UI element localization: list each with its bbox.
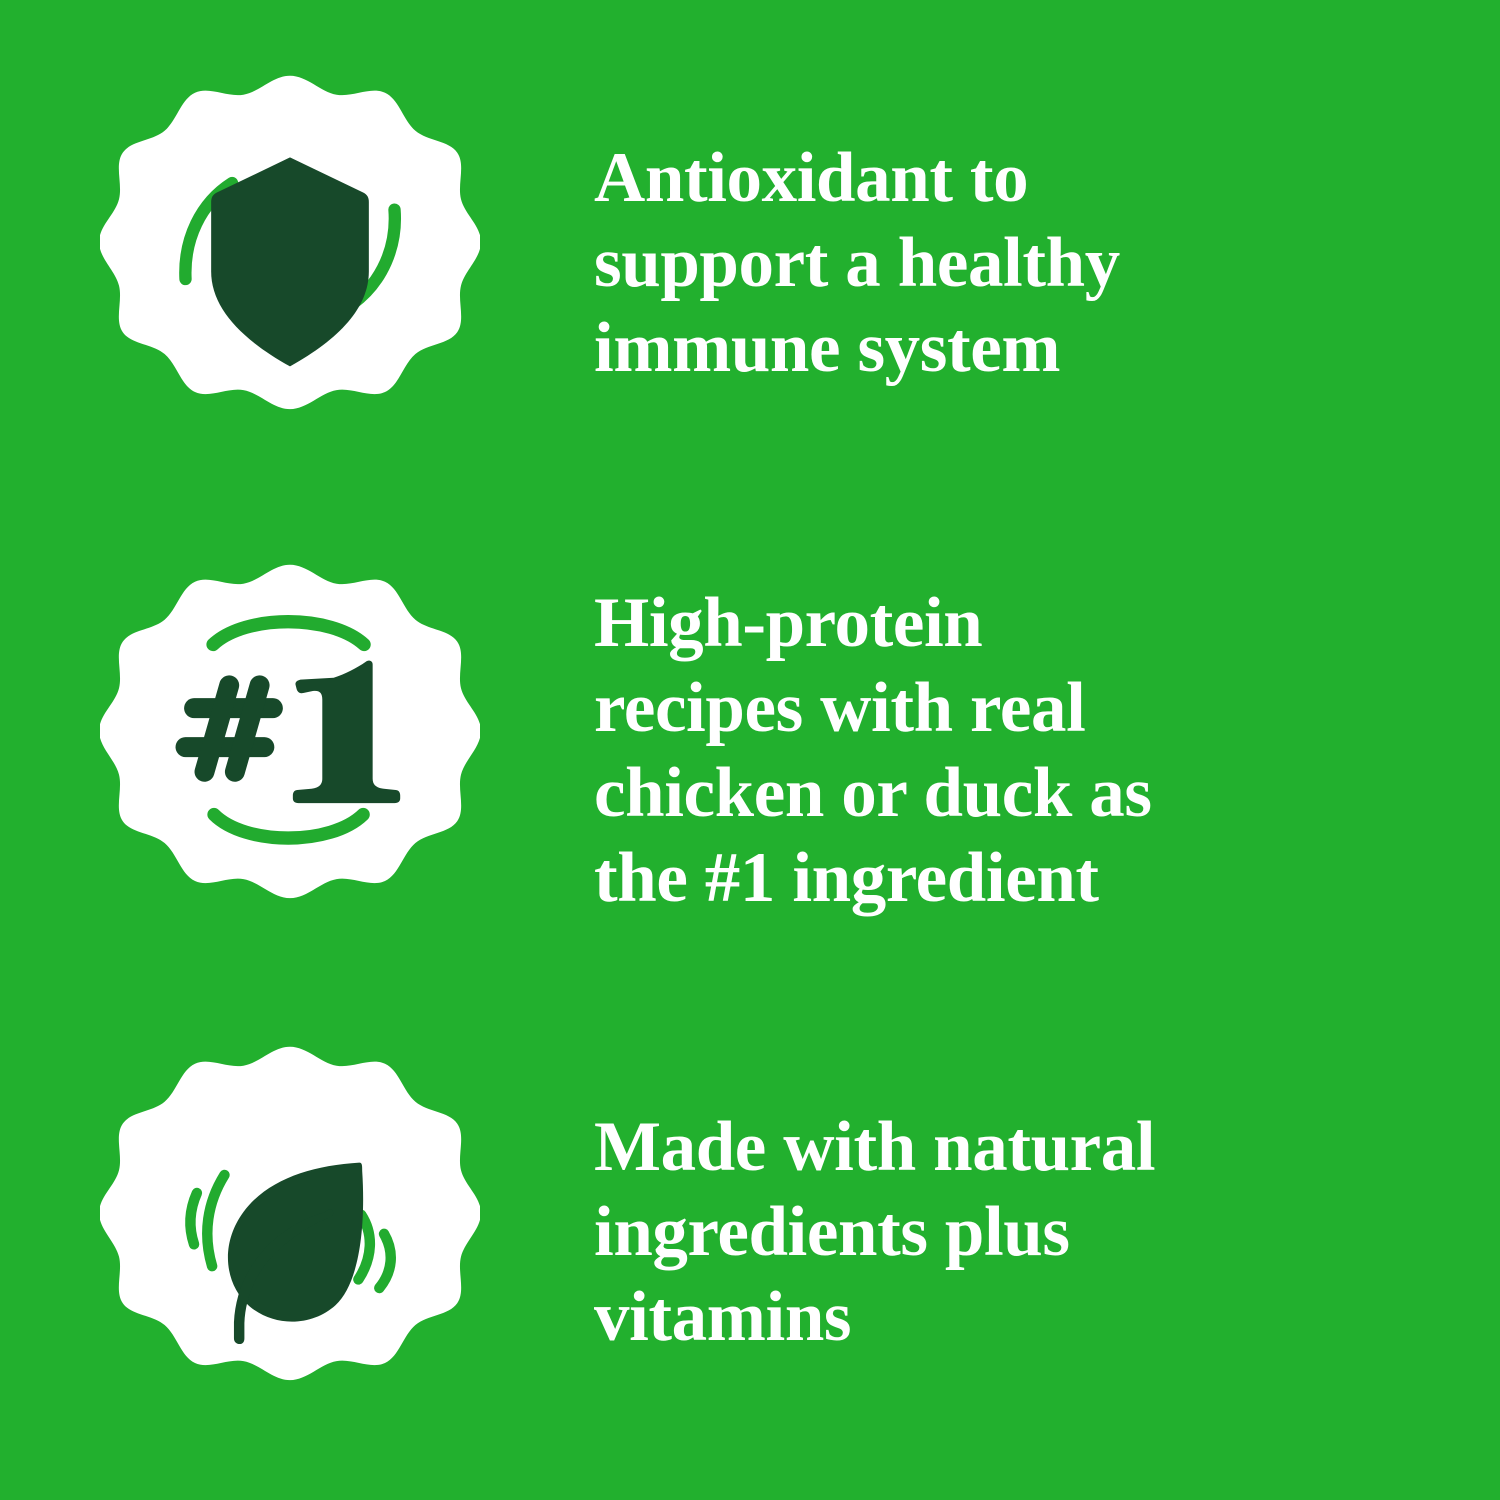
benefit-row: Made with natural ingredients plus vitam…: [0, 1031, 1500, 1431]
shield-badge-svg: [100, 65, 480, 455]
benefit-row: Antioxidant to support a healthy immune …: [0, 65, 1500, 455]
badge-number-one: [100, 554, 480, 944]
badge-leaf: [100, 1031, 480, 1431]
badge-scalloped-shape: [100, 565, 480, 898]
benefit-text-natural-ingredients: Made with natural ingredients plus vitam…: [594, 1105, 1500, 1360]
benefit-row: High-protein recipes with real chicken o…: [0, 553, 1500, 945]
benefit-text-antioxidant: Antioxidant to support a healthy immune …: [594, 136, 1500, 391]
leaf-badge-svg: [100, 1031, 480, 1431]
benefits-panel: Antioxidant to support a healthy immune …: [0, 0, 1500, 1500]
benefit-text-high-protein: High-protein recipes with real chicken o…: [594, 581, 1500, 921]
badge-shield: [100, 65, 480, 455]
number-one-badge-svg: [100, 554, 480, 944]
